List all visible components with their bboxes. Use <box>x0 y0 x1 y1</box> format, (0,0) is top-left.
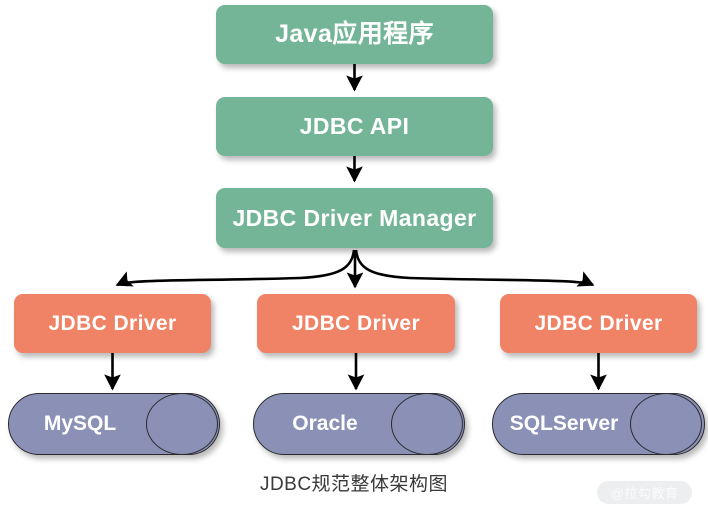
watermark-badge: @拉勾教育 <box>597 481 692 504</box>
node-label: Java应用程序 <box>275 22 434 47</box>
cylinder-cap <box>146 393 218 455</box>
cylinder-cap <box>391 393 463 455</box>
node-jdbc-driver-1[interactable]: JDBC Driver <box>257 294 455 353</box>
edge-manager-to-driver-0 <box>117 250 354 285</box>
node-database-mysql[interactable]: MySQL <box>8 393 220 455</box>
node-label: JDBC Driver <box>292 313 420 334</box>
node-jdbc-api[interactable]: JDBC API <box>216 97 493 156</box>
cylinder-cap <box>630 393 702 455</box>
edge-manager-to-driver-2 <box>356 250 593 285</box>
node-label: JDBC Driver <box>534 313 662 334</box>
node-label: Oracle <box>259 393 391 455</box>
node-label: JDBC Driver <box>48 313 176 334</box>
node-jdbc-driver-0[interactable]: JDBC Driver <box>14 294 211 353</box>
node-jdbc-driver-manager[interactable]: JDBC Driver Manager <box>216 188 493 248</box>
node-database-oracle[interactable]: Oracle <box>253 393 465 455</box>
node-database-sqlserver[interactable]: SQLServer <box>492 393 705 455</box>
node-label: JDBC Driver Manager <box>232 207 476 230</box>
node-label: SQLServer <box>494 393 634 455</box>
node-jdbc-driver-2[interactable]: JDBC Driver <box>500 294 697 353</box>
node-java-application[interactable]: Java应用程序 <box>216 5 493 64</box>
jdbc-architecture-diagram: Java应用程序 JDBC API JDBC Driver Manager JD… <box>0 0 708 515</box>
node-label: MySQL <box>14 393 146 455</box>
node-label: JDBC API <box>300 115 410 138</box>
